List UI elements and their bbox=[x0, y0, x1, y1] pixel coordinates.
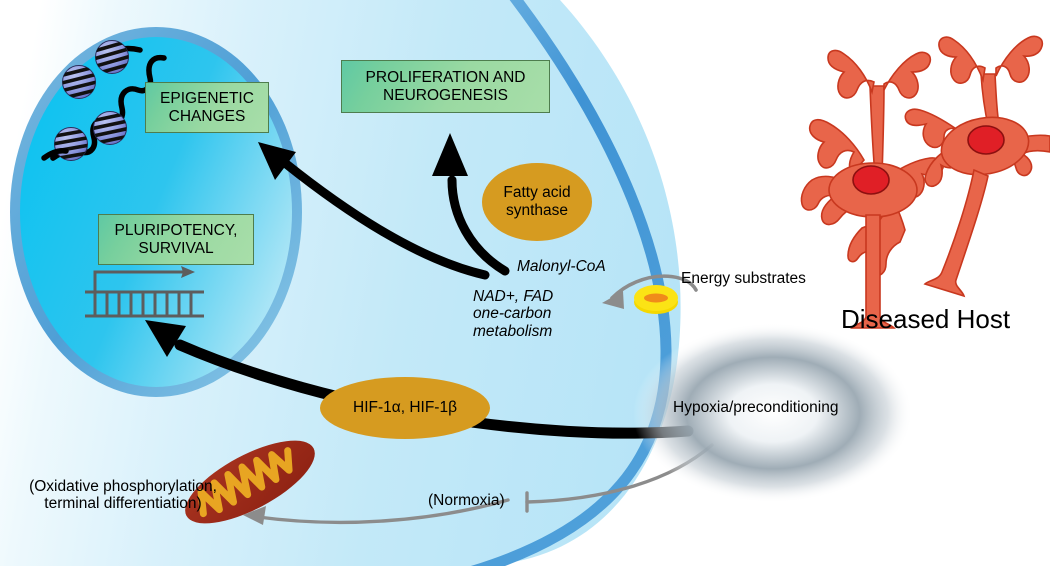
epigenetic-changes-line1: EPIGENETIC bbox=[160, 90, 254, 107]
fatty-acid-synthase-line2: synthase bbox=[503, 202, 570, 220]
neurons-icon bbox=[801, 36, 1050, 328]
diseased-host-label: Diseased Host bbox=[841, 305, 1010, 334]
neuron-left bbox=[801, 51, 943, 328]
figure-canvas: EPIGENETIC CHANGES PLURIPOTENCY, SURVIVA… bbox=[0, 0, 1050, 566]
malonyl-coa-label: Malonyl-CoA bbox=[517, 258, 606, 275]
proliferation-neurogenesis-line2: NEUROGENESIS bbox=[366, 87, 526, 104]
hif-label: HIF-1α, HIF-1β bbox=[353, 399, 457, 417]
energy-substrates-label: Energy substrates bbox=[681, 270, 806, 287]
oxphos-caption-line2: terminal differentiation) bbox=[13, 495, 233, 512]
hypoxia-label: Hypoxia/preconditioning bbox=[673, 399, 838, 416]
pluripotency-survival-line1: PLURIPOTENCY, bbox=[115, 222, 238, 239]
pluripotency-survival-box: PLURIPOTENCY, SURVIVAL bbox=[98, 214, 254, 265]
proliferation-neurogenesis-box: PROLIFERATION AND NEUROGENESIS bbox=[341, 60, 550, 113]
hif-oval: HIF-1α, HIF-1β bbox=[320, 377, 490, 439]
cofactors-label: NAD+, FAD one-carbon metabolism bbox=[473, 288, 553, 340]
oxphos-caption: (Oxidative phosphorylation, terminal dif… bbox=[13, 478, 233, 513]
epigenetic-changes-line2: CHANGES bbox=[160, 108, 254, 125]
cofactors-line1: NAD+, FAD bbox=[473, 288, 553, 305]
cofactors-line3: metabolism bbox=[473, 323, 553, 340]
membrane-transporter-icon bbox=[634, 285, 678, 314]
oxphos-caption-line1: (Oxidative phosphorylation, bbox=[13, 478, 233, 495]
pluripotency-survival-line2: SURVIVAL bbox=[115, 240, 238, 257]
fatty-acid-synthase-line1: Fatty acid bbox=[503, 184, 570, 202]
epigenetic-changes-box: EPIGENETIC CHANGES bbox=[145, 82, 269, 133]
fatty-acid-synthase-oval: Fatty acid synthase bbox=[482, 163, 592, 241]
cofactors-line2: one-carbon bbox=[473, 305, 553, 322]
proliferation-neurogenesis-line1: PROLIFERATION AND bbox=[366, 69, 526, 86]
normoxia-label: (Normoxia) bbox=[428, 492, 505, 509]
